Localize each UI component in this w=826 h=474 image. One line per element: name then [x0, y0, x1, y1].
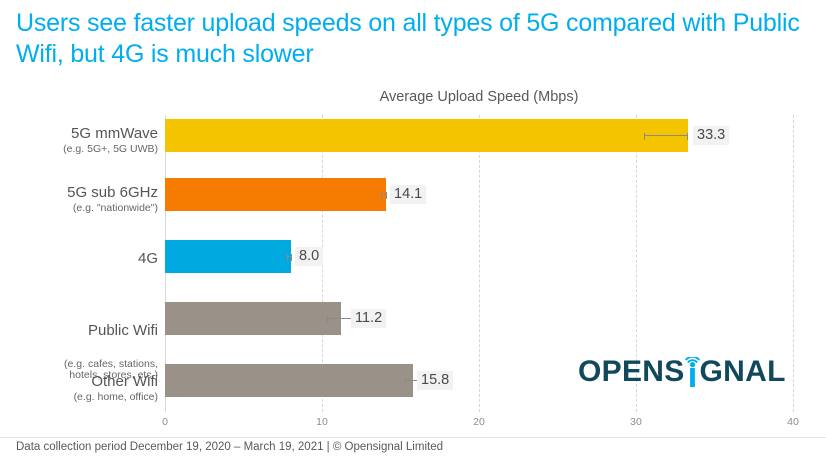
gridline-20	[479, 115, 480, 412]
bar-other-wifi[interactable]	[165, 364, 413, 397]
footer-note: Data collection period December 19, 2020…	[16, 441, 443, 453]
value-label-public-wifi: 11.2	[351, 309, 386, 328]
x-axis: 0 10 20 30 40	[165, 412, 793, 432]
value-label-4g: 8.0	[295, 247, 323, 266]
opensignal-logo: OPENS GNAL	[578, 353, 786, 387]
value-label-5g-mmwave: 33.3	[693, 126, 729, 145]
category-label-5g-mmwave: 5G mmWave (e.g. 5G+, 5G UWB)	[0, 126, 158, 156]
category-axis: 5G mmWave (e.g. 5G+, 5G UWB) 5G sub 6GHz…	[0, 115, 158, 412]
footer-divider	[0, 437, 826, 438]
category-label-main: 5G mmWave	[0, 126, 158, 143]
error-bar-5g-mmwave	[644, 135, 688, 136]
chart-page: Users see faster upload speeds on all ty…	[0, 0, 826, 474]
bar-public-wifi[interactable]	[165, 302, 341, 335]
category-label-main: 4G	[0, 251, 158, 268]
category-label-main: Other Wifi	[0, 374, 158, 391]
page-title: Users see faster upload speeds on all ty…	[16, 8, 816, 70]
x-tick-30: 30	[630, 416, 642, 428]
value-label-other-wifi: 15.8	[417, 371, 453, 390]
category-label-sub: (e.g. "nationwide")	[0, 203, 158, 215]
category-label-5g-sub6ghz: 5G sub 6GHz (e.g. "nationwide")	[0, 185, 158, 215]
category-label-main: Public Wifi	[0, 323, 158, 340]
chart-title: Average Upload Speed (Mbps)	[165, 89, 793, 105]
bar-4g[interactable]	[165, 240, 291, 273]
bar-5g-mmwave[interactable]	[165, 119, 688, 152]
error-bar-5g-sub6ghz	[381, 194, 387, 195]
category-label-other-wifi: Other Wifi (e.g. home, office)	[0, 374, 158, 404]
value-label-5g-sub6ghz: 14.1	[390, 185, 426, 204]
logo-text-part2: GNAL	[700, 357, 786, 387]
category-label-main: 5G sub 6GHz	[0, 185, 158, 202]
x-tick-0: 0	[162, 416, 168, 428]
logo-text-part1: OPENS	[578, 357, 685, 387]
category-label-sub: (e.g. 5G+, 5G UWB)	[0, 144, 158, 156]
wifi-signal-icon	[685, 357, 700, 387]
category-label-4g: 4G	[0, 251, 158, 268]
bar-5g-sub6ghz[interactable]	[165, 178, 386, 211]
x-tick-20: 20	[473, 416, 485, 428]
error-bar-public-wifi	[327, 318, 353, 319]
x-tick-10: 10	[316, 416, 328, 428]
gridline-40	[793, 115, 794, 412]
category-label-sub: (e.g. home, office)	[0, 392, 158, 404]
x-tick-40: 40	[787, 416, 799, 428]
error-bar-4g	[287, 256, 292, 257]
